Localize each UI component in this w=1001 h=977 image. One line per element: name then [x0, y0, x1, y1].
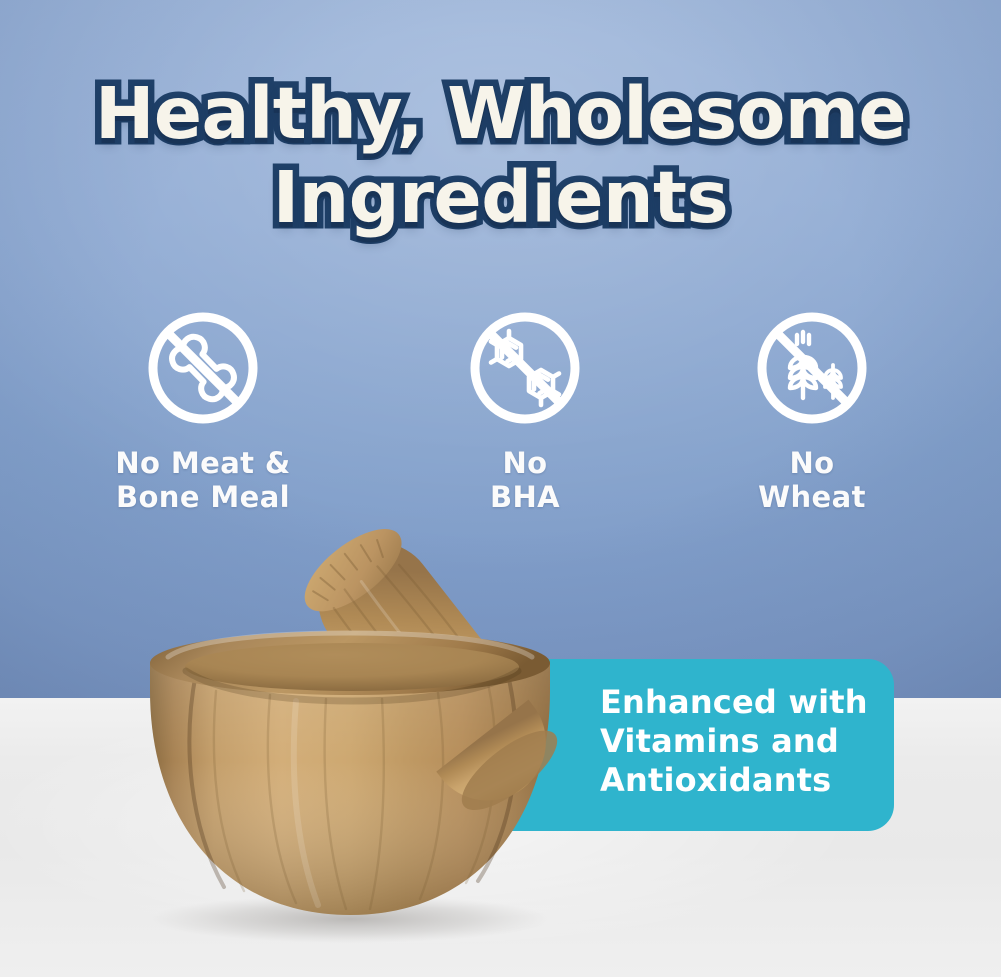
headline: Healthy, Wholesome Ingredients — [0, 72, 1001, 240]
no-meat-and-bone-meal-icon — [145, 310, 261, 426]
badge-no-wheat: No Wheat — [692, 310, 932, 514]
no-wheat-icon — [754, 310, 870, 426]
no-bha-icon — [467, 310, 583, 426]
badge-no-bha: No BHA — [405, 310, 645, 514]
mortar-and-pestle-illustration — [120, 495, 680, 955]
mortar-and-pestle-image — [120, 495, 680, 955]
headline-line-1: Healthy, Wholesome — [0, 72, 1001, 156]
headline-line-2: Ingredients — [0, 156, 1001, 240]
badge-label: No Wheat — [692, 446, 932, 514]
badge-no-meat-and-bone-meal: No Meat & Bone Meal — [83, 310, 323, 514]
product-feature-poster: Healthy, Wholesome Ingredients No Meat &… — [0, 0, 1001, 977]
